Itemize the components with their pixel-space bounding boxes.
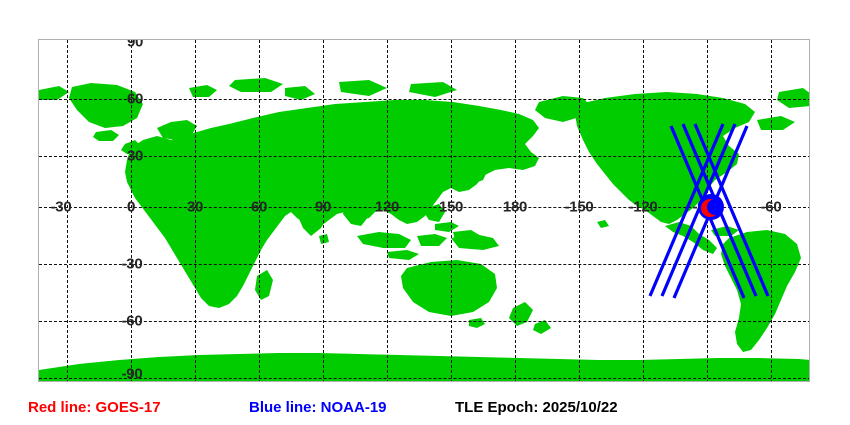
lon-tick-label: 60 <box>251 200 267 215</box>
legend-red-line-goes17: Red line: GOES-17 <box>28 400 161 415</box>
lat-tick-label: 90 <box>127 39 143 50</box>
lon-tick-label: -120 <box>629 200 658 215</box>
lon-tick-label: 150 <box>439 200 463 215</box>
lon-tick-label: 30 <box>187 200 203 215</box>
lat-tick-label: -60 <box>122 314 143 329</box>
lon-tick-label: 90 <box>315 200 331 215</box>
lon-tick-label: 120 <box>375 200 399 215</box>
lat-tick-label: 60 <box>127 92 143 107</box>
legend-footer: Red line: GOES-17 Blue line: NOAA-19 TLE… <box>0 392 850 425</box>
legend-blue-line-noaa19: Blue line: NOAA-19 <box>249 400 387 415</box>
lon-tick-label: -60 <box>761 200 782 215</box>
map-plot-area: -30 0 30 60 90 120 150 180 -150 -120 -90… <box>38 39 810 382</box>
lon-tick-label: 180 <box>503 200 527 215</box>
lat-tick-label: -30 <box>122 257 143 272</box>
lat-tick-label: 0 <box>127 200 135 215</box>
legend-tle-epoch: TLE Epoch: 2025/10/22 <box>455 400 618 415</box>
satellite-tracking-map: -30 0 30 60 90 120 150 180 -150 -120 -90… <box>0 0 850 425</box>
lon-tick-label: -90 <box>693 200 714 215</box>
lon-tick-label: -30 <box>51 200 72 215</box>
lat-tick-label: 30 <box>127 149 143 164</box>
lon-tick-label: -150 <box>565 200 594 215</box>
lat-tick-label: -90 <box>122 367 143 382</box>
